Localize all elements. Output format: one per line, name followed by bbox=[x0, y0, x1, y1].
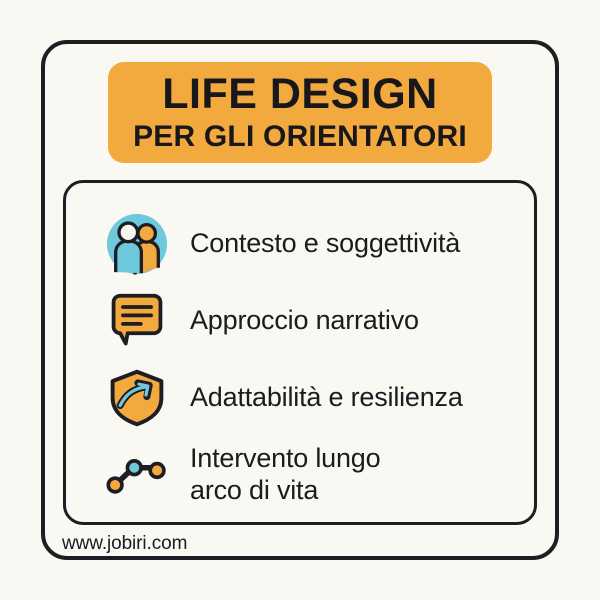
page-title: LIFE DESIGN bbox=[162, 72, 437, 117]
list-item-label: Approccio narrativo bbox=[190, 305, 419, 337]
list-item-label: Adattabilità e resilienza bbox=[190, 382, 463, 414]
list-item: Intervento lungo arco di vita bbox=[66, 436, 534, 513]
list-item: Contesto e soggettività bbox=[66, 205, 534, 282]
feature-panel: Contesto e soggettività Approccio narrat… bbox=[63, 180, 537, 525]
two-people-icon bbox=[104, 211, 170, 277]
shield-arrow-icon bbox=[104, 365, 170, 431]
poster-canvas: LIFE DESIGN PER GLI ORIENTATORI Contesto… bbox=[0, 0, 600, 600]
list-item-label: Contesto e soggettività bbox=[190, 228, 460, 260]
page-subtitle: PER GLI ORIENTATORI bbox=[133, 120, 467, 153]
list-item: Adattabilità e resilienza bbox=[66, 359, 534, 436]
title-badge: LIFE DESIGN PER GLI ORIENTATORI bbox=[108, 62, 492, 163]
list-item-label: Intervento lungo arco di vita bbox=[190, 443, 380, 507]
timeline-dots-icon bbox=[104, 442, 170, 508]
speech-bubble-icon bbox=[104, 288, 170, 354]
footer-url[interactable]: www.jobiri.com bbox=[62, 533, 187, 555]
feature-list: Contesto e soggettività Approccio narrat… bbox=[66, 183, 534, 522]
list-item: Approccio narrativo bbox=[66, 282, 534, 359]
